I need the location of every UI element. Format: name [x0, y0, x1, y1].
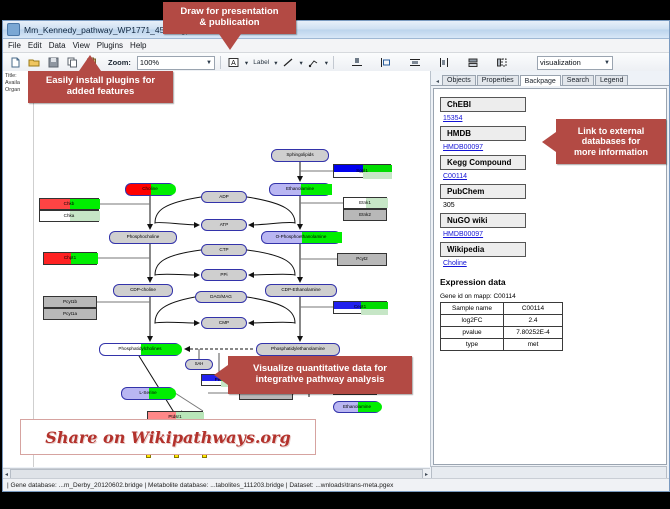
cell-value: C00114	[504, 303, 563, 315]
line-tool-icon[interactable]	[280, 55, 296, 71]
node-chkb[interactable]: Chkb	[39, 198, 99, 210]
cell-key: log2FC	[441, 315, 504, 327]
toolbar-separator	[220, 56, 221, 69]
node-cdp-choline[interactable]: CDP-choline	[113, 284, 173, 297]
node-label: PPi	[220, 273, 227, 278]
zoom-value: 100%	[140, 58, 159, 67]
node-label: CMP	[219, 321, 229, 326]
tool-bar: Zoom: 100% ▼ A ▾ Label ▾ ▾ ▾	[3, 53, 669, 73]
align-left-icon[interactable]	[378, 55, 394, 71]
node-cept1[interactable]: Cept1	[333, 301, 387, 314]
node-label: Pcyt1a	[63, 312, 77, 317]
callout-visualize-arrow	[214, 365, 228, 385]
svg-text:A: A	[232, 60, 237, 67]
callout-plugins-arrow	[79, 55, 101, 71]
visualization-value: visualization	[540, 58, 581, 67]
tab-objects[interactable]: Objects	[442, 75, 476, 85]
callout-links-line3: more information	[574, 147, 648, 157]
menu-item-help[interactable]: Help	[130, 41, 146, 50]
menu-item-data[interactable]: Data	[49, 41, 66, 50]
tab-backpage[interactable]: Backpage	[520, 75, 561, 86]
zoom-combo[interactable]: 100% ▼	[137, 56, 215, 70]
callout-plugins: Easily install plugins for added feature…	[28, 71, 173, 103]
db-title-pubchem: PubChem	[440, 184, 526, 199]
screenshot-root: Mm_Kennedy_pathway_WP1771_45176.gpml Fil…	[0, 0, 670, 509]
cell-value: 7.80252E-4	[504, 327, 563, 339]
node-cmp[interactable]: CMP	[201, 317, 247, 329]
callout-links-line1: Link to external	[578, 126, 645, 136]
menu-bar: File Edit Data View Plugins Help	[3, 39, 669, 53]
node-label: CDP-Ethanolamine	[281, 288, 320, 293]
node-label: Etnk1	[359, 201, 371, 206]
node-chpt1[interactable]: Chpt1	[43, 252, 97, 265]
table-row: pvalue 7.80252E-4	[441, 327, 563, 339]
node-ethanolamine[interactable]: Ethanolamine	[269, 183, 331, 196]
save-icon[interactable]	[45, 55, 61, 71]
node-label: Chpt1	[64, 256, 76, 261]
callout-links: Link to external databases for more info…	[556, 119, 666, 164]
cell-value: 2.4	[504, 315, 563, 327]
node-label: Chkb	[64, 202, 75, 207]
db-title-nugo: NuGO wiki	[440, 213, 526, 228]
node-label: Sphingolipids	[286, 153, 313, 158]
status-text: | Gene database: ...m_Derby_20120602.bri…	[7, 482, 393, 489]
node-pcyt1a[interactable]: Pcyt1a	[43, 308, 97, 320]
node-label: L-Serine	[139, 391, 156, 396]
db-title-wikipedia: Wikipedia	[440, 242, 526, 257]
cell-key: pvalue	[441, 327, 504, 339]
line-tool-caret[interactable]: ▾	[299, 59, 302, 67]
tab-legend[interactable]: Legend	[595, 75, 628, 85]
node-label: Sgpl1	[356, 169, 368, 174]
db-link-nugo[interactable]: HMDB00097	[443, 231, 660, 238]
node-sphingolipids[interactable]: Sphingolipids	[271, 149, 329, 162]
node-label: CDP-choline	[130, 288, 156, 293]
menu-item-view[interactable]: View	[73, 41, 90, 50]
node-label: Pcyt1b	[63, 300, 77, 305]
open-folder-icon[interactable]	[26, 55, 42, 71]
callout-visualize-line2: integrative pathway analysis	[256, 375, 385, 386]
node-label: Choline	[142, 187, 158, 192]
callout-draw: Draw for presentation & publication	[163, 2, 296, 34]
node-ethanolamine-right[interactable]: Ethanolamine	[333, 401, 381, 413]
node-dagmag[interactable]: DAG/MAG	[195, 291, 247, 303]
node-label: ADP	[219, 195, 228, 200]
tab-scroll-left-icon[interactable]: ◂	[436, 78, 441, 85]
callout-share-text: Share on Wikipathways.org	[45, 428, 290, 447]
zoom-label: Zoom:	[108, 58, 131, 67]
node-label: Phosphocholine	[127, 235, 160, 240]
node-etnk2[interactable]: Etnk2	[343, 209, 387, 221]
table-row: type met	[441, 339, 563, 351]
tab-properties[interactable]: Properties	[477, 75, 519, 85]
node-phosphatidylethanolamine[interactable]: Phosphatidylethanolamine	[256, 343, 340, 356]
status-bar: | Gene database: ...m_Derby_20120602.bri…	[3, 478, 669, 491]
node-ppi[interactable]: PPi	[201, 269, 247, 281]
scroll-right-icon[interactable]: ▸	[425, 471, 428, 478]
callout-links-line2: databases for	[582, 136, 641, 146]
node-pcyt1b[interactable]: Pcyt1b	[43, 296, 97, 308]
label-tool-caret[interactable]: ▾	[274, 59, 277, 67]
gene-id-label: Gene id on mapp: C00114	[440, 293, 660, 300]
callout-draw-line2: & publication	[199, 18, 259, 29]
node-choline-top[interactable]: Choline	[125, 183, 175, 196]
node-label: Phosphatidylcholines	[118, 347, 161, 352]
node-label: ATP	[220, 223, 229, 228]
interaction-tool-icon[interactable]	[306, 55, 322, 71]
label-tool-button[interactable]: Label	[251, 55, 271, 71]
cell-value: met	[504, 339, 563, 351]
expression-table: Sample name C00114 log2FC 2.4 pvalue 7.8…	[440, 302, 563, 351]
node-cdp-ethanolamine[interactable]: CDP-Ethanolamine	[265, 284, 337, 297]
node-phosphatidylcholines[interactable]: Phosphatidylcholines	[99, 343, 181, 356]
distribute-vertical-icon[interactable]	[407, 55, 423, 71]
app-icon	[7, 23, 20, 36]
chevron-down-icon-2: ▼	[604, 60, 610, 66]
node-label: CTP	[219, 248, 228, 253]
node-label: Ethanolamine	[286, 187, 314, 192]
node-label: Ethanolamine	[343, 405, 371, 410]
node-l-serine-left[interactable]: L-Serine	[121, 387, 175, 400]
callout-links-arrow	[542, 132, 556, 152]
align-top-icon[interactable]	[349, 55, 365, 71]
cell-key: type	[441, 339, 504, 351]
node-label: DAG/MAG	[210, 295, 232, 300]
stack-icon[interactable]	[465, 55, 481, 71]
menu-item-plugins[interactable]: Plugins	[97, 41, 123, 50]
cell-key: Sample name	[441, 303, 504, 315]
node-label: Cept1	[354, 305, 366, 310]
title-bar: Mm_Kennedy_pathway_WP1771_45176.gpml	[3, 21, 669, 39]
node-adp[interactable]: ADP	[201, 191, 247, 203]
scroll-left-icon[interactable]: ◂	[5, 471, 8, 478]
db-title-hmdb: HMDB	[440, 126, 526, 141]
interaction-tool-caret[interactable]: ▾	[325, 59, 328, 67]
tab-search[interactable]: Search	[562, 75, 594, 85]
node-chka[interactable]: Chka	[39, 210, 99, 222]
node-etnk1[interactable]: Etnk1	[343, 197, 387, 209]
db-title-kegg: Kegg Compound	[440, 155, 526, 170]
menu-item-edit[interactable]: Edit	[28, 41, 42, 50]
sidebar-tabs: ◂ Objects Properties Backpage Search Leg…	[431, 71, 669, 86]
new-file-icon[interactable]	[7, 55, 23, 71]
pathway-canvas[interactable]: Title: Availa Organ	[3, 71, 431, 467]
node-ctp[interactable]: CTP	[201, 244, 247, 256]
table-row: Sample name C00114	[441, 303, 563, 315]
callout-share: Share on Wikipathways.org	[20, 419, 316, 455]
db-value-pubchem: 305	[443, 202, 660, 209]
toolbar-separator-2	[333, 56, 334, 69]
visualization-combo[interactable]: visualization ▼	[537, 56, 613, 70]
text-label-icon[interactable]: A	[226, 55, 242, 71]
node-label: Chka	[64, 214, 75, 219]
node-label: Etnk2	[359, 213, 371, 218]
group-icon[interactable]	[494, 55, 510, 71]
callout-draw-arrow	[219, 34, 241, 50]
db-link-wikipedia[interactable]: Choline	[443, 260, 660, 267]
node-pcyt2[interactable]: Pcyt2	[337, 253, 387, 266]
node-label: SAH	[195, 362, 204, 366]
table-row: log2FC 2.4	[441, 315, 563, 327]
node-sah[interactable]: SAH	[185, 359, 213, 370]
chevron-down-icon: ▼	[206, 60, 212, 66]
copy-icon[interactable]	[64, 55, 80, 71]
node-label: O-Phosphoethanolamine	[276, 235, 327, 240]
node-sgpl1[interactable]: Sgpl1	[333, 164, 391, 178]
db-title-chebi: ChEBI	[440, 97, 526, 112]
node-label: Pcyt2	[356, 257, 368, 262]
menu-item-file[interactable]: File	[8, 41, 21, 50]
distribute-horizontal-icon[interactable]	[436, 55, 452, 71]
node-phosphocholine[interactable]: Phosphocholine	[109, 231, 177, 244]
node-label: Phosphatidylethanolamine	[271, 347, 325, 352]
expression-data-heading: Expression data	[440, 277, 660, 287]
node-o-phosphoethanolamine[interactable]: O-Phosphoethanolamine	[261, 231, 341, 244]
label-dropdown-caret[interactable]: ▾	[245, 59, 248, 67]
callout-plugins-line2: added features	[67, 87, 135, 98]
db-link-kegg[interactable]: C00114	[443, 173, 660, 180]
node-atp[interactable]: ATP	[201, 219, 247, 231]
callout-visualize: Visualize quantitative data for integrat…	[228, 356, 412, 394]
